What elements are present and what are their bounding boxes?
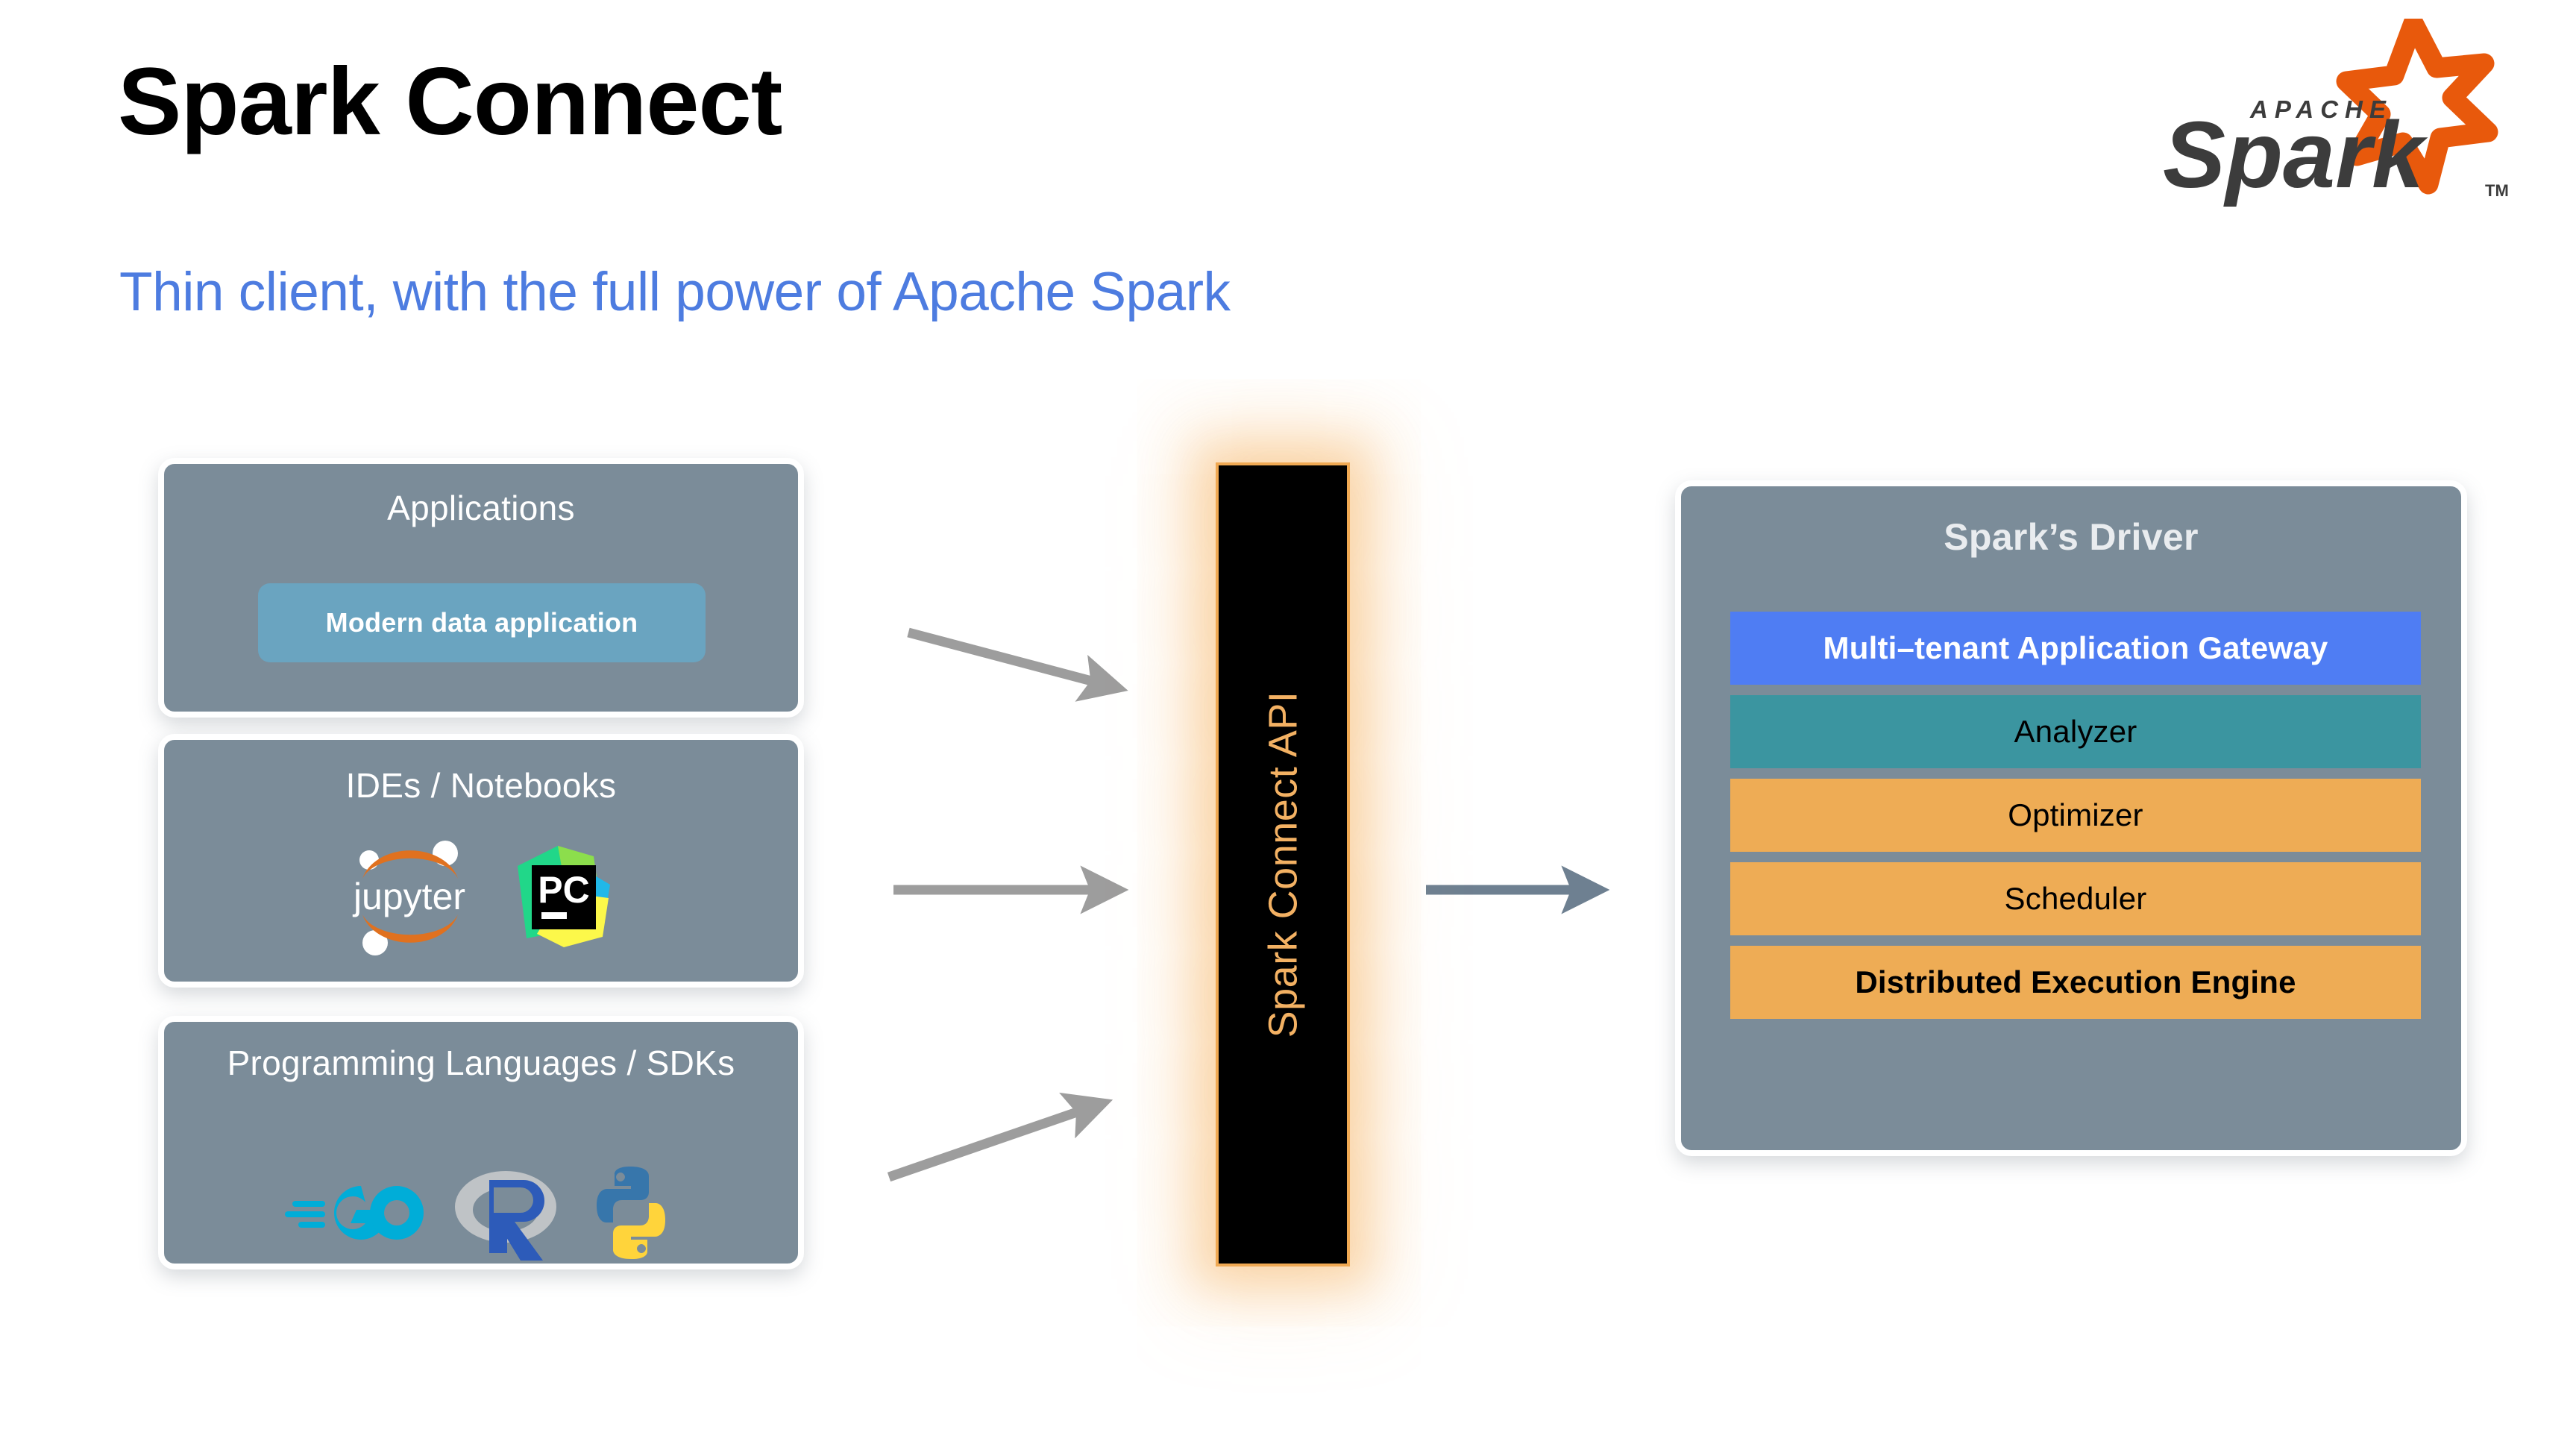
svg-text:Spark: Spark [2163,102,2428,207]
panel-ides-notebooks-title: IDEs / Notebooks [164,767,798,806]
panel-applications[interactable]: Applications Modern data application [158,458,804,718]
driver-component-analyzer-label: Analyzer [2014,714,2137,750]
arrow-applications-to-api [908,633,1111,686]
apache-spark-star-icon: APACHE Spark TM [2151,19,2524,209]
driver-component-execution-engine[interactable]: Distributed Execution Engine [1730,946,2421,1019]
jupyter-logo: jupyter [346,837,473,960]
svg-text:PC: PC [538,869,589,911]
driver-component-analyzer[interactable]: Analyzer [1730,695,2421,768]
page-title: Spark Connect [118,52,782,152]
spark-connect-api-bar[interactable]: Spark Connect API [1216,462,1350,1266]
panel-programming-languages[interactable]: Programming Languages / SDKs [158,1016,804,1269]
spark-connect-api-label: Spark Connect API [1260,691,1306,1038]
panel-spark-driver-title: Spark’s Driver [1681,516,2461,558]
go-logo [283,1174,433,1255]
panel-ides-notebooks[interactable]: IDEs / Notebooks jupyter PC [158,734,804,988]
panel-programming-languages-title: Programming Languages / SDKs [164,1044,798,1083]
driver-component-stack: Multi–tenant Application Gateway Analyze… [1730,612,2421,1019]
apache-spark-logo: APACHE Spark TM [2151,19,2524,209]
languages-logo-row [164,1161,798,1269]
driver-component-optimizer[interactable]: Optimizer [1730,779,2421,852]
driver-component-gateway[interactable]: Multi–tenant Application Gateway [1730,612,2421,685]
driver-component-optimizer-label: Optimizer [2008,797,2143,833]
driver-component-scheduler[interactable]: Scheduler [1730,862,2421,935]
modern-data-application-chip[interactable]: Modern data application [258,583,706,662]
panel-spark-driver[interactable]: Spark’s Driver Multi–tenant Application … [1675,480,2467,1156]
svg-text:jupyter: jupyter [352,876,465,917]
pycharm-logo: PC [504,840,616,957]
arrow-languages-to-api [889,1105,1096,1177]
driver-component-scheduler-label: Scheduler [2005,881,2147,917]
svg-text:TM: TM [2485,181,2509,200]
python-logo [583,1164,679,1266]
r-logo [452,1161,564,1269]
driver-component-execution-engine-label: Distributed Execution Engine [1855,964,2296,1000]
driver-component-gateway-label: Multi–tenant Application Gateway [1823,630,2328,666]
page-subtitle: Thin client, with the full power of Apac… [119,261,1231,323]
panel-applications-title: Applications [164,489,798,528]
ides-logo-row: jupyter PC [164,837,798,960]
